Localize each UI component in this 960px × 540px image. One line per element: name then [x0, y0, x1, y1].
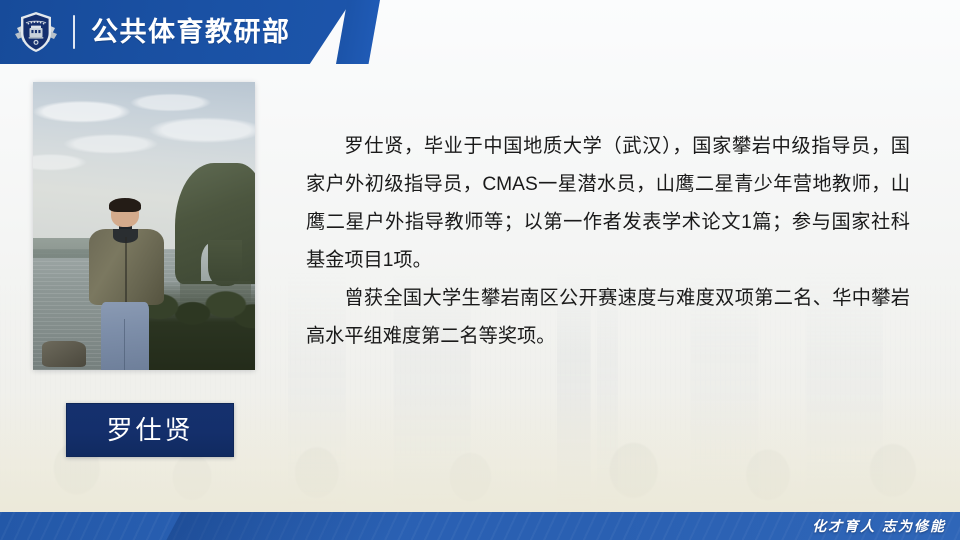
photo-person	[89, 200, 164, 370]
person-jacket-zip	[125, 237, 127, 302]
person-hair	[109, 198, 141, 212]
slide-footer: 化才育人 志为修能	[0, 512, 960, 540]
slide-header: 公共体育教研部	[0, 0, 352, 64]
name-badge-label: 罗仕贤	[106, 417, 193, 443]
presentation-slide: 公共体育教研部 罗仕贤 罗仕贤，毕业于中国地质大学（武汉），国家攀岩中级指导员，…	[0, 0, 960, 540]
photo-hill-trunk	[208, 240, 241, 286]
biography-text: 罗仕贤，毕业于中国地质大学（武汉），国家攀岩中级指导员，国家户外初级指导员，CM…	[306, 128, 910, 356]
name-badge: 罗仕贤	[66, 403, 234, 457]
university-crest-icon	[13, 9, 59, 55]
bio-paragraph-2: 曾获全国大学生攀岩南区公开赛速度与难度双项第二名、华中攀岩高水平组难度第二名等奖…	[306, 280, 910, 356]
photo-rock	[42, 341, 86, 367]
bio-paragraph-1: 罗仕贤，毕业于中国地质大学（武汉），国家攀岩中级指导员，国家户外初级指导员，CM…	[306, 128, 910, 280]
footer-motto: 化才育人 志为修能	[812, 516, 946, 536]
profile-photo	[33, 82, 255, 370]
header-divider	[73, 15, 75, 49]
person-leg-split	[124, 319, 126, 370]
page-title: 公共体育教研部	[91, 19, 291, 46]
